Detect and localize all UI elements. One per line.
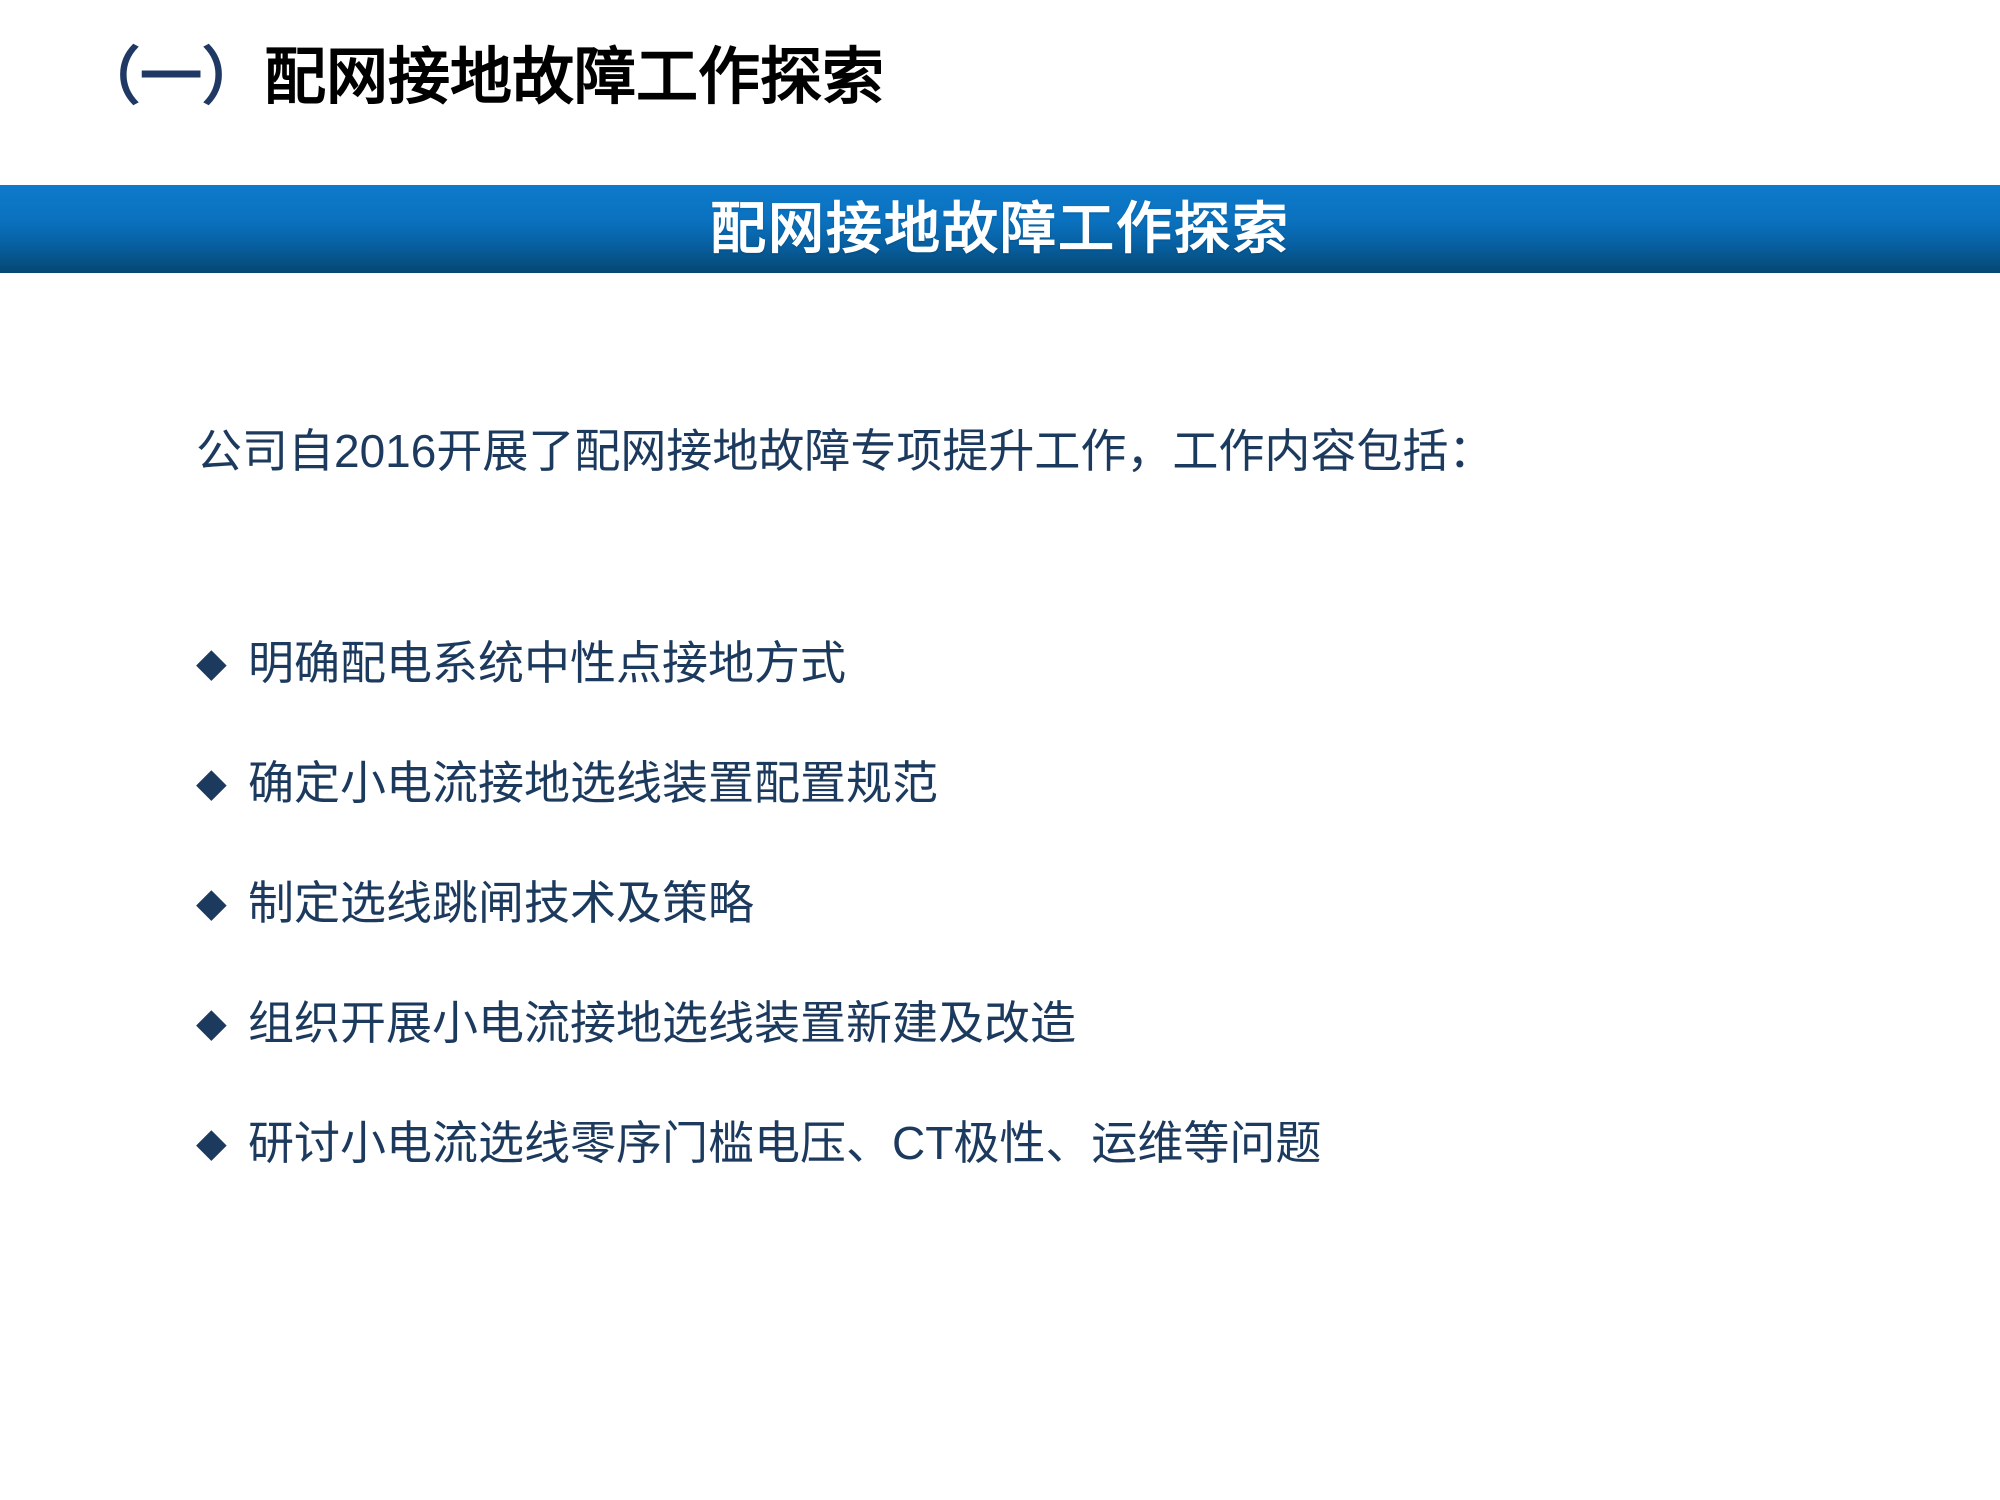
- page-title-number: （一）: [78, 43, 264, 112]
- section-banner: 配网接地故障工作探索: [0, 185, 2000, 273]
- intro-paragraph: 公司自2016开展了配网接地故障专项提升工作，工作内容包括：: [196, 420, 1494, 482]
- slide-body: 公司自2016开展了配网接地故障专项提升工作，工作内容包括： ◆ 明确配电系统中…: [0, 273, 2000, 1500]
- bullet-list: ◆ 明确配电系统中性点接地方式 ◆ 确定小电流接地选线装置配置规范 ◆ 制定选线…: [196, 633, 1896, 1233]
- diamond-bullet-icon: ◆: [196, 633, 248, 693]
- list-item-label: 明确配电系统中性点接地方式: [248, 633, 846, 693]
- list-item: ◆ 组织开展小电流接地选线装置新建及改造: [196, 993, 1896, 1113]
- diamond-bullet-icon: ◆: [196, 1113, 248, 1173]
- section-banner-title: 配网接地故障工作探索: [710, 199, 1290, 259]
- page-title-text: 配网接地故障工作探索: [264, 43, 884, 112]
- list-item: ◆ 研讨小电流选线零序门槛电压、CT极性、运维等问题: [196, 1113, 1896, 1233]
- list-item-label: 制定选线跳闸技术及策略: [248, 873, 754, 933]
- diamond-bullet-icon: ◆: [196, 873, 248, 933]
- presentation-slide: （一）配网接地故障工作探索 配网接地故障工作探索 公司自2016开展了配网接地故…: [0, 0, 2000, 1500]
- diamond-bullet-icon: ◆: [196, 993, 248, 1053]
- list-item-label: 研讨小电流选线零序门槛电压、CT极性、运维等问题: [248, 1113, 1321, 1173]
- page-title: （一）配网接地故障工作探索: [78, 38, 884, 118]
- list-item-label: 确定小电流接地选线装置配置规范: [248, 753, 938, 813]
- list-item: ◆ 明确配电系统中性点接地方式: [196, 633, 1896, 753]
- list-item-label: 组织开展小电流接地选线装置新建及改造: [248, 993, 1076, 1053]
- list-item: ◆ 制定选线跳闸技术及策略: [196, 873, 1896, 993]
- list-item: ◆ 确定小电流接地选线装置配置规范: [196, 753, 1896, 873]
- diamond-bullet-icon: ◆: [196, 753, 248, 813]
